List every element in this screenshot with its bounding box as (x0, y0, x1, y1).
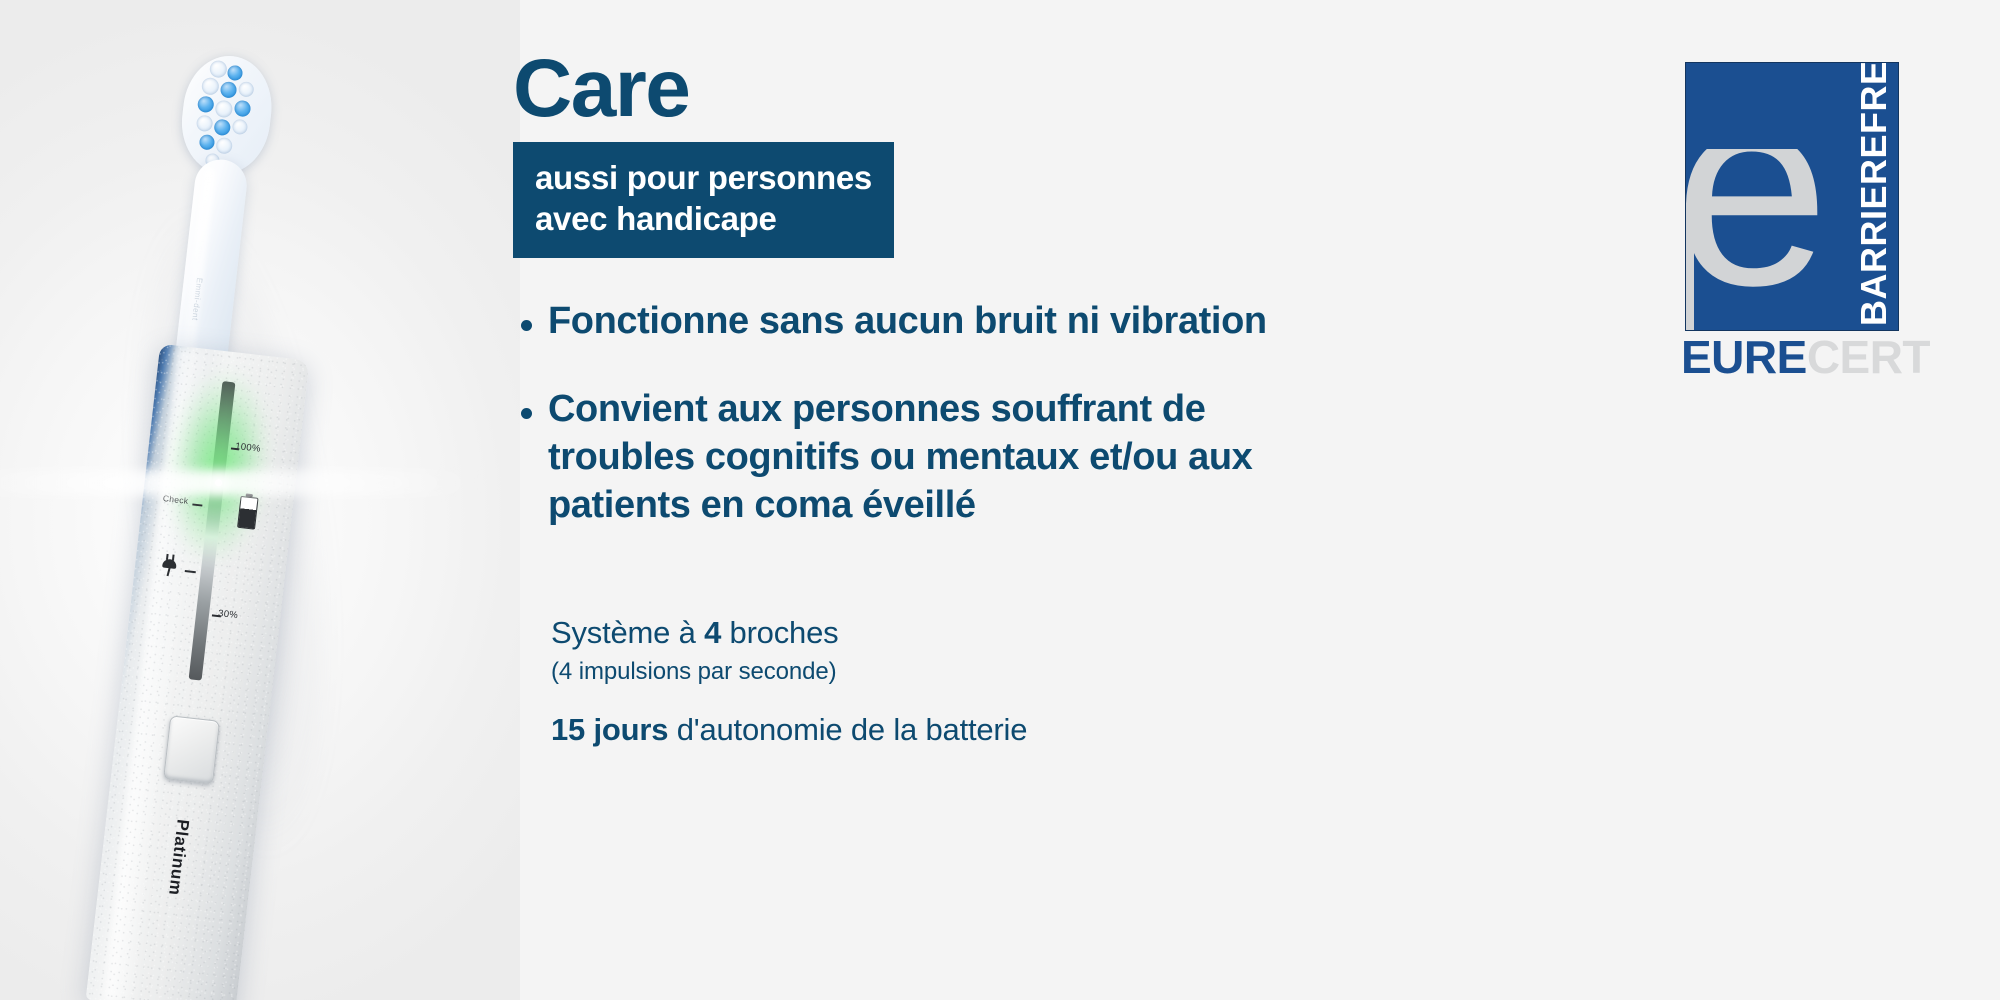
plug-icon (158, 553, 180, 577)
logo-wordmark-eure: EURE (1681, 331, 1807, 383)
feature-text: Fonctionne sans aucun bruit ni vibration (548, 298, 1321, 346)
spec-pulses: (4 impulsions par seconde) (551, 657, 1311, 687)
neck-brand-label: Emmi-dent (190, 277, 204, 321)
logo-left-bar (1686, 213, 1694, 330)
logo-wordmark-cert: CERT (1807, 331, 1930, 383)
spec-pin-suffix: broches (721, 615, 838, 650)
bullet-dot-icon (521, 408, 532, 419)
display-label-low: 30% (218, 608, 239, 621)
logo-blue-box: e BARRIEREFREI (1685, 62, 1899, 331)
logo-vertical-text: BARRIEREFREI (1856, 62, 1892, 326)
spec-pin-prefix: Système à (551, 615, 704, 650)
content-column: Care aussi pour personnes avec handicape… (513, 0, 1613, 1000)
spec-battery-days: 15 jours (551, 712, 668, 747)
subtitle-line-1: aussi pour personnes (535, 158, 872, 199)
subtitle-banner: aussi pour personnes avec handicape (513, 142, 894, 258)
certification-logo: e BARRIEREFREI EURECERT (1685, 62, 1897, 382)
light-streak (0, 470, 480, 496)
poster-canvas: Emmi-dent 100% Check (0, 0, 2000, 1000)
feature-list: Fonctionne sans aucun bruit ni vibration… (521, 298, 1321, 570)
logo-e-monogram: e (1685, 149, 1864, 331)
brush-neck: Emmi-dent (174, 157, 249, 372)
list-item: Fonctionne sans aucun bruit ni vibration (521, 298, 1321, 346)
power-button[interactable] (163, 715, 220, 784)
feature-text: Convient aux personnes souffrant de trou… (548, 386, 1321, 530)
product-photo: Emmi-dent 100% Check (0, 0, 520, 1000)
spec-battery-suffix: d'autonomie de la batterie (668, 712, 1027, 747)
logo-e-glyph: e (1685, 149, 1830, 283)
spec-block: Système à 4 broches (4 impulsions par se… (551, 614, 1311, 748)
spec-battery: 15 jours d'autonomie de la batterie (551, 711, 1311, 748)
logo-wordmark: EURECERT (1681, 334, 1930, 380)
bullet-dot-icon (521, 320, 532, 331)
subtitle-line-2: avec handicape (535, 199, 872, 240)
page-title: Care (513, 48, 689, 130)
spec-pin-count: 4 (704, 615, 721, 650)
spec-pin-system: Système à 4 broches (551, 614, 1311, 651)
list-item: Convient aux personnes souffrant de trou… (521, 386, 1321, 530)
battery-icon (237, 496, 259, 530)
